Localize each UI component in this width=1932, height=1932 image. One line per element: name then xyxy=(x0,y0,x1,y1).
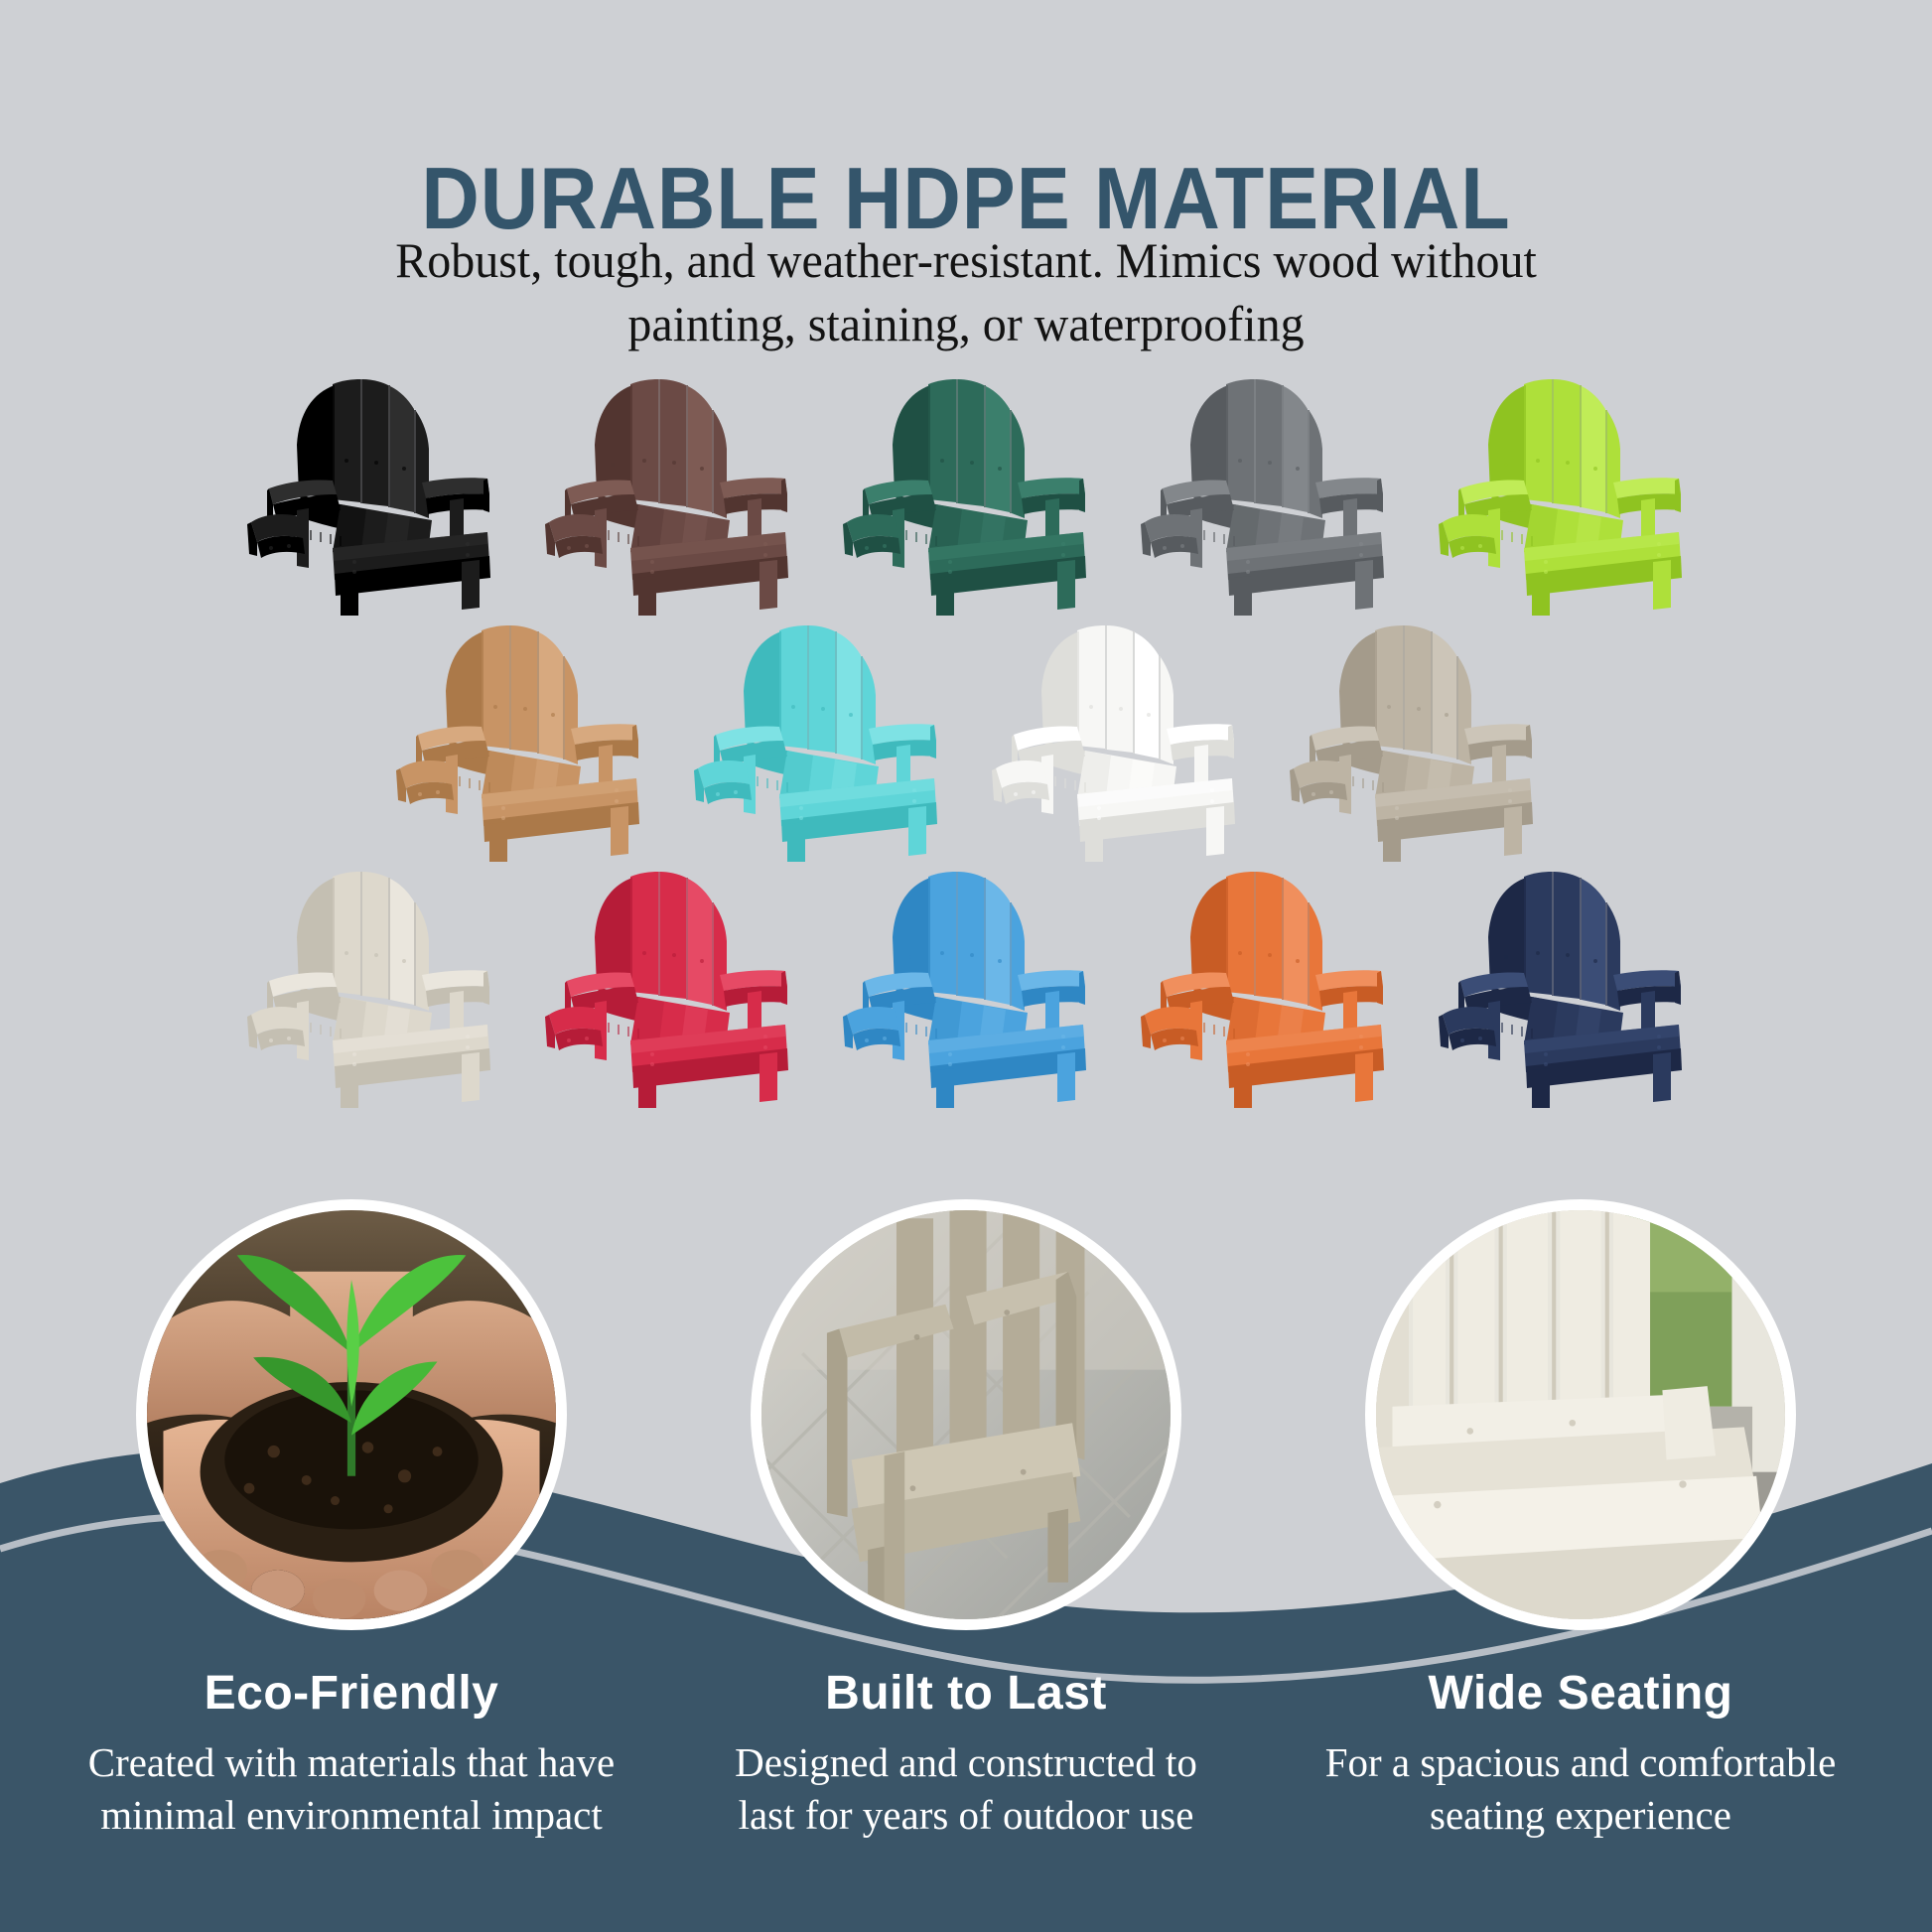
chair-swatch-turquoise[interactable] xyxy=(668,616,966,862)
chair-swatch-orange[interactable] xyxy=(1115,862,1413,1108)
adirondack-chair-cream[interactable] xyxy=(237,866,503,1108)
chair-row-3 xyxy=(0,862,1932,1108)
chair-rear-foot xyxy=(992,760,1049,804)
feature-heading: Wide Seating xyxy=(1273,1666,1888,1721)
adirondack-chair-blue[interactable] xyxy=(833,866,1099,1108)
chair-color-grid xyxy=(0,369,1932,1108)
feature-body-line-2: minimal environmental impact xyxy=(44,1789,659,1842)
adirondack-chair-lime[interactable] xyxy=(1429,373,1695,616)
chair-rear-foot xyxy=(1439,1007,1496,1050)
chair-rear-foot xyxy=(1141,514,1198,558)
feature-built-to-last: Built to Last Designed and constructed t… xyxy=(658,1666,1274,1843)
chair-rear-foot xyxy=(1439,514,1496,558)
chair-swatch-khaki[interactable] xyxy=(1264,616,1562,862)
feature-body-line-2: last for years of outdoor use xyxy=(658,1789,1274,1842)
page-subtitle: Robust, tough, and weather-resistant. Mi… xyxy=(39,228,1893,355)
feature-body-line-1: For a spacious and comfortable xyxy=(1273,1736,1888,1789)
chair-rear-foot xyxy=(396,760,454,804)
adirondack-chair-dark green[interactable] xyxy=(833,373,1099,616)
adirondack-chair-turquoise[interactable] xyxy=(684,620,950,862)
photo-circle-durable xyxy=(761,1210,1171,1619)
feature-body: Created with materials that have minimal… xyxy=(44,1736,659,1843)
chair-swatch-navy[interactable] xyxy=(1413,862,1711,1108)
chair-swatch-gray[interactable] xyxy=(1115,369,1413,616)
feature-body-line-1: Designed and constructed to xyxy=(658,1736,1274,1789)
infographic-canvas: DURABLE HDPE MATERIAL Robust, tough, and… xyxy=(0,0,1932,1932)
adirondack-chair-navy[interactable] xyxy=(1429,866,1695,1108)
adirondack-chair-brown[interactable] xyxy=(535,373,801,616)
photo-circle-seating xyxy=(1376,1210,1785,1619)
adirondack-chair-orange[interactable] xyxy=(1131,866,1397,1108)
subtitle-line-1: Robust, tough, and weather-resistant. Mi… xyxy=(39,228,1893,292)
chair-swatch-brown[interactable] xyxy=(519,369,817,616)
chair-row-1 xyxy=(0,369,1932,616)
chair-swatch-lime[interactable] xyxy=(1413,369,1711,616)
feature-heading: Built to Last xyxy=(658,1666,1274,1721)
feature-body-line-2: seating experience xyxy=(1273,1789,1888,1842)
feature-heading: Eco-Friendly xyxy=(44,1666,659,1721)
chair-swatch-red[interactable] xyxy=(519,862,817,1108)
chair-swatch-tan[interactable] xyxy=(370,616,668,862)
chair-rear-foot xyxy=(545,514,603,558)
chair-rear-foot xyxy=(694,760,752,804)
chair-swatch-dark-green[interactable] xyxy=(817,369,1115,616)
feature-body: For a spacious and comfortable seating e… xyxy=(1273,1736,1888,1843)
chair-rear-foot xyxy=(1290,760,1347,804)
chair-rear-foot xyxy=(545,1007,603,1050)
chair-row-2 xyxy=(0,616,1932,862)
khaki-chair-on-patio-photo xyxy=(761,1210,1171,1619)
chair-swatch-cream[interactable] xyxy=(221,862,519,1108)
adirondack-chair-red[interactable] xyxy=(535,866,801,1108)
adirondack-chair-gray[interactable] xyxy=(1131,373,1397,616)
chair-rear-foot xyxy=(843,514,900,558)
adirondack-chair-white[interactable] xyxy=(982,620,1248,862)
chair-swatch-black[interactable] xyxy=(221,369,519,616)
chair-swatch-blue[interactable] xyxy=(817,862,1115,1108)
adirondack-chair-tan[interactable] xyxy=(386,620,652,862)
feature-body: Designed and constructed to last for yea… xyxy=(658,1736,1274,1843)
feature-eco-friendly: Eco-Friendly Created with materials that… xyxy=(44,1666,659,1843)
chair-swatch-white[interactable] xyxy=(966,616,1264,862)
subtitle-line-2: painting, staining, or waterproofing xyxy=(39,292,1893,355)
adirondack-chair-black[interactable] xyxy=(237,373,503,616)
chair-rear-foot xyxy=(843,1007,900,1050)
chair-rear-foot xyxy=(247,514,305,558)
feature-body-line-1: Created with materials that have xyxy=(44,1736,659,1789)
hands-holding-seedling-photo xyxy=(147,1210,556,1619)
chair-rear-foot xyxy=(247,1007,305,1050)
photo-circle-eco xyxy=(147,1210,556,1619)
white-chair-seat-closeup-photo xyxy=(1376,1210,1785,1619)
feature-wide-seating: Wide Seating For a spacious and comforta… xyxy=(1273,1666,1888,1843)
adirondack-chair-khaki[interactable] xyxy=(1280,620,1546,862)
chair-rear-foot xyxy=(1141,1007,1198,1050)
